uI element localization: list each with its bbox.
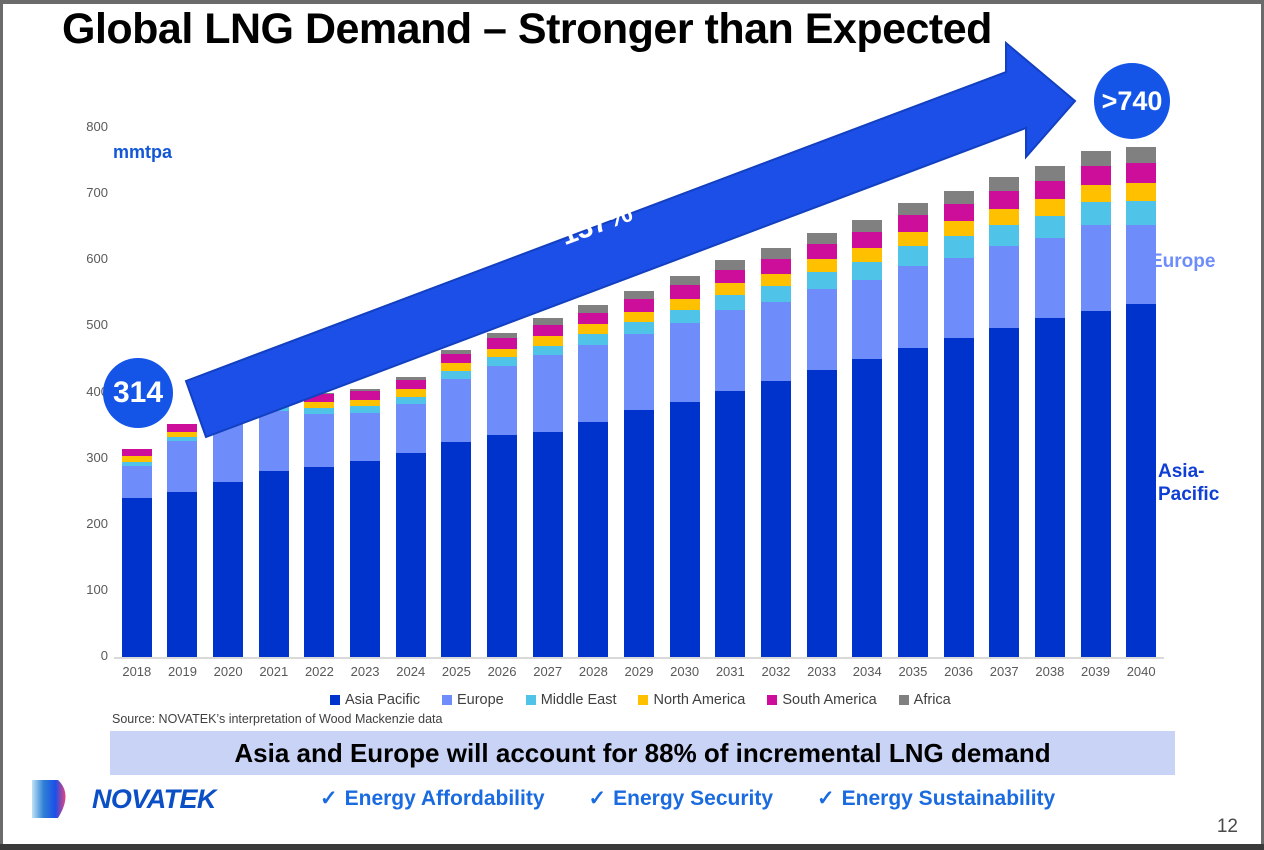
- legend-label: Asia Pacific: [345, 692, 420, 708]
- bar-segment: [715, 295, 745, 310]
- x-axis-tick: 2031: [707, 664, 753, 679]
- bar-segment: [1126, 147, 1156, 163]
- bar-segment: [761, 274, 791, 287]
- bar-segment: [441, 363, 471, 371]
- footer-taglines: ✓Energy Affordability✓Energy Security✓En…: [320, 786, 1055, 811]
- bar-segment: [213, 424, 243, 482]
- bar-column: [898, 203, 928, 657]
- bar-column: [533, 318, 563, 657]
- footer-tagline: ✓Energy Affordability: [320, 786, 545, 811]
- bar-segment: [533, 325, 563, 336]
- x-axis-tick: 2033: [799, 664, 845, 679]
- bar-segment: [578, 422, 608, 657]
- y-axis-tick: 100: [74, 582, 108, 597]
- x-axis-tick: 2021: [251, 664, 297, 679]
- bar-column: [304, 393, 334, 657]
- bar-segment: [989, 328, 1019, 657]
- x-axis-tick: 2034: [844, 664, 890, 679]
- bar-segment: [350, 391, 380, 400]
- footer-tagline: ✓Energy Security: [589, 786, 774, 811]
- bar-segment: [944, 221, 974, 236]
- x-axis-tick: 2029: [616, 664, 662, 679]
- bar-column: [350, 389, 380, 657]
- bar-column: [1081, 151, 1111, 657]
- bar-segment: [715, 270, 745, 284]
- highlight-banner-text: Asia and Europe will account for 88% of …: [234, 738, 1050, 769]
- bar-segment: [715, 391, 745, 657]
- bar-segment: [1081, 311, 1111, 657]
- bar-segment: [807, 272, 837, 289]
- bar-segment: [852, 220, 882, 232]
- check-icon: ✓: [817, 786, 835, 811]
- bar-segment: [1126, 304, 1156, 657]
- bar-segment: [304, 402, 334, 409]
- bar-segment: [396, 389, 426, 396]
- bar-segment: [350, 461, 380, 657]
- x-axis-tick: 2023: [342, 664, 388, 679]
- bar-segment: [1126, 201, 1156, 225]
- x-axis-tick: 2026: [479, 664, 525, 679]
- bar-segment: [213, 407, 243, 414]
- legend-swatch-icon: [330, 695, 340, 705]
- legend-swatch-icon: [767, 695, 777, 705]
- bar-column: [1035, 166, 1065, 657]
- bar-segment: [350, 413, 380, 461]
- bar-segment: [396, 380, 426, 389]
- bar-segment: [1035, 216, 1065, 238]
- x-axis-tick: 2018: [114, 664, 160, 679]
- bar-segment: [624, 322, 654, 334]
- bar-segment: [441, 442, 471, 657]
- bar-segment: [852, 280, 882, 359]
- bar-column: [167, 424, 197, 657]
- bar-segment: [670, 323, 700, 402]
- bar-segment: [624, 410, 654, 657]
- bar-segment: [989, 225, 1019, 247]
- bar-segment: [1035, 318, 1065, 657]
- bar-segment: [670, 285, 700, 298]
- bar-segment: [396, 453, 426, 657]
- bar-segment: [1081, 225, 1111, 311]
- bar-segment: [167, 492, 197, 657]
- x-axis-tick: 2027: [525, 664, 571, 679]
- bar-segment: [578, 345, 608, 422]
- bar-segment: [898, 203, 928, 216]
- bar-segment: [1035, 166, 1065, 181]
- bar-segment: [944, 191, 974, 204]
- footer-tagline-label: Energy Security: [613, 787, 773, 811]
- bar-segment: [1035, 181, 1065, 200]
- bar-column: [213, 407, 243, 657]
- bar-segment: [624, 291, 654, 300]
- slide-canvas: Global LNG Demand – Stronger than Expect…: [0, 0, 1264, 850]
- bar-segment: [761, 286, 791, 302]
- bar-segment: [533, 355, 563, 432]
- bar-segment: [350, 406, 380, 413]
- stacked-bar-chart: mmtpa 8007006005004003002001000 20182019…: [0, 0, 1264, 850]
- bar-segment: [487, 357, 517, 366]
- bar-segment: [396, 404, 426, 453]
- y-axis-tick: 300: [74, 450, 108, 465]
- bar-segment: [259, 411, 289, 471]
- bar-segment: [898, 232, 928, 247]
- bar-segment: [898, 266, 928, 347]
- bar-segment: [487, 349, 517, 358]
- legend-swatch-icon: [899, 695, 909, 705]
- y-axis-tick: 800: [74, 119, 108, 134]
- bar-segment: [578, 305, 608, 313]
- brand-wordmark: NOVATEK: [92, 784, 216, 815]
- legend-swatch-icon: [442, 695, 452, 705]
- bar-segment: [1126, 163, 1156, 183]
- bar-segment: [852, 232, 882, 248]
- x-axis-tick: 2028: [570, 664, 616, 679]
- bar-segment: [122, 449, 152, 456]
- bar-segment: [304, 467, 334, 657]
- bar-segment: [670, 402, 700, 657]
- bar-segment: [989, 177, 1019, 191]
- bar-segment: [624, 312, 654, 323]
- bar-segment: [441, 354, 471, 364]
- bar-segment: [167, 424, 197, 431]
- bar-segment: [350, 400, 380, 407]
- legend-label: North America: [653, 692, 745, 708]
- bar-segment: [259, 471, 289, 657]
- series-callout-asia-line-2: Pacific: [1158, 484, 1219, 505]
- start-value-bubble: 314: [103, 358, 173, 428]
- bar-segment: [715, 283, 745, 295]
- x-axis-tick: 2036: [936, 664, 982, 679]
- bar-segment: [715, 310, 745, 391]
- check-icon: ✓: [589, 786, 607, 811]
- bar-segment: [396, 397, 426, 404]
- bar-segment: [122, 466, 152, 498]
- bar-column: [441, 350, 471, 657]
- legend-item[interactable]: Middle East: [526, 692, 617, 708]
- bar-segment: [533, 318, 563, 325]
- legend-swatch-icon: [638, 695, 648, 705]
- legend-item[interactable]: South America: [767, 692, 876, 708]
- x-axis-tick: 2040: [1118, 664, 1164, 679]
- bar-segment: [852, 262, 882, 281]
- check-icon: ✓: [320, 786, 338, 811]
- bar-segment: [259, 393, 289, 400]
- bar-segment: [487, 366, 517, 435]
- bar-segment: [807, 370, 837, 657]
- x-axis-tick: 2032: [753, 664, 799, 679]
- bar-segment: [989, 209, 1019, 225]
- bar-segment: [761, 259, 791, 274]
- bar-segment: [487, 338, 517, 349]
- legend-label: Europe: [457, 692, 504, 708]
- bar-segment: [122, 498, 152, 657]
- bar-segment: [944, 204, 974, 221]
- series-callout-asia-line-1: Asia-: [1158, 461, 1204, 482]
- bar-column: [989, 177, 1019, 657]
- x-axis-tick: 2024: [388, 664, 434, 679]
- bar-segment: [1081, 151, 1111, 166]
- bar-segment: [670, 299, 700, 310]
- series-callout-europe: Europe: [1150, 250, 1215, 273]
- legend-label: South America: [782, 692, 876, 708]
- legend-item[interactable]: North America: [638, 692, 745, 708]
- x-axis-tick: 2022: [296, 664, 342, 679]
- bar-segment: [441, 379, 471, 442]
- bar-segment: [807, 244, 837, 259]
- bar-column: [624, 291, 654, 657]
- bar-segment: [852, 248, 882, 262]
- bar-segment: [944, 338, 974, 657]
- legend-swatch-icon: [526, 695, 536, 705]
- x-axis-tick: 2030: [662, 664, 708, 679]
- novatek-leaf-icon: [28, 778, 76, 820]
- bar-column: [578, 305, 608, 657]
- x-axis-tick: 2035: [890, 664, 936, 679]
- bar-segment: [852, 359, 882, 657]
- bar-segment: [989, 246, 1019, 328]
- bar-column: [944, 191, 974, 657]
- bar-segment: [578, 324, 608, 334]
- bar-segment: [670, 276, 700, 285]
- bar-group: [114, 128, 1164, 657]
- legend-item[interactable]: Asia Pacific: [330, 692, 420, 708]
- bar-segment: [1081, 166, 1111, 185]
- bar-segment: [1035, 199, 1065, 216]
- chart-legend: Asia PacificEuropeMiddle EastNorth Ameri…: [330, 692, 951, 708]
- chart-source-note: Source: NOVATEK’s interpretation of Wood…: [112, 712, 443, 726]
- bar-segment: [715, 260, 745, 270]
- legend-item[interactable]: Africa: [899, 692, 951, 708]
- bar-segment: [898, 215, 928, 232]
- bar-segment: [624, 299, 654, 312]
- bar-segment: [1035, 238, 1065, 318]
- bar-column: [807, 233, 837, 657]
- bar-segment: [487, 435, 517, 657]
- bar-column: [670, 276, 700, 657]
- bar-segment: [670, 310, 700, 323]
- x-axis-tick: 2020: [205, 664, 251, 679]
- footer-tagline-label: Energy Affordability: [345, 787, 545, 811]
- x-axis-tick: 2025: [433, 664, 479, 679]
- bar-column: [487, 333, 517, 657]
- x-axis-tick: 2019: [159, 664, 205, 679]
- bar-segment: [761, 302, 791, 381]
- highlight-banner: Asia and Europe will account for 88% of …: [110, 731, 1175, 775]
- bar-column: [761, 248, 791, 657]
- bar-segment: [944, 236, 974, 257]
- bar-segment: [533, 346, 563, 355]
- bar-column: [122, 449, 152, 657]
- bar-segment: [898, 348, 928, 657]
- bar-segment: [533, 432, 563, 657]
- series-callout-asia-pacific: Asia- Pacific: [1158, 460, 1219, 506]
- bar-column: [396, 377, 426, 657]
- bar-segment: [1081, 185, 1111, 202]
- bar-segment: [533, 336, 563, 345]
- bar-column: [1126, 147, 1156, 657]
- bar-column: [259, 393, 289, 657]
- bar-segment: [807, 259, 837, 272]
- bar-segment: [944, 258, 974, 339]
- footer-tagline-label: Energy Sustainability: [842, 787, 1056, 811]
- x-axis-tick: 2039: [1073, 664, 1119, 679]
- bar-segment: [761, 381, 791, 657]
- end-value-bubble: >740: [1094, 63, 1170, 139]
- bar-segment: [989, 191, 1019, 209]
- bar-segment: [761, 248, 791, 259]
- bar-segment: [304, 394, 334, 402]
- bar-column: [852, 220, 882, 657]
- page-number: 12: [1217, 816, 1238, 838]
- bar-segment: [578, 313, 608, 325]
- bar-segment: [167, 441, 197, 491]
- x-axis-tick: 2037: [981, 664, 1027, 679]
- x-axis-line: [114, 657, 1164, 659]
- legend-label: Middle East: [541, 692, 617, 708]
- bar-segment: [213, 482, 243, 657]
- legend-item[interactable]: Europe: [442, 692, 504, 708]
- bar-segment: [807, 289, 837, 370]
- bar-column: [715, 260, 745, 657]
- bar-segment: [1126, 183, 1156, 201]
- bar-segment: [624, 334, 654, 410]
- bar-segment: [441, 371, 471, 379]
- bar-segment: [304, 414, 334, 467]
- y-axis-tick: 200: [74, 516, 108, 531]
- footer-tagline: ✓Energy Sustainability: [817, 786, 1055, 811]
- y-axis-tick: 0: [74, 648, 108, 663]
- x-axis-tick: 2038: [1027, 664, 1073, 679]
- y-axis-tick: 600: [74, 251, 108, 266]
- y-axis-tick: 500: [74, 317, 108, 332]
- y-axis-tick: 700: [74, 185, 108, 200]
- bar-segment: [807, 233, 837, 244]
- legend-label: Africa: [914, 692, 951, 708]
- bar-segment: [1081, 202, 1111, 225]
- bar-segment: [578, 334, 608, 345]
- bar-segment: [898, 246, 928, 266]
